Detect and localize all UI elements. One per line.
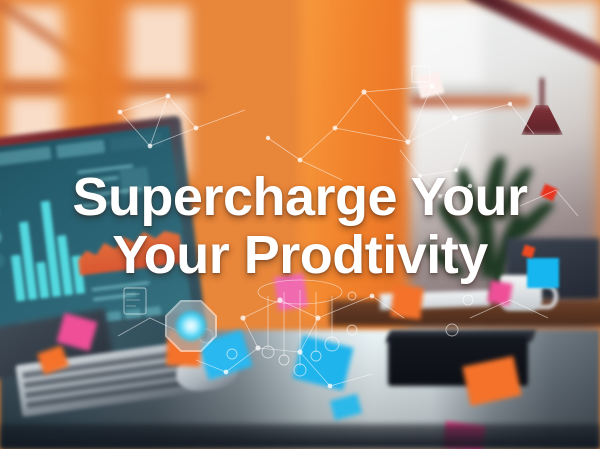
- glowing-hexagon-icon: [165, 300, 217, 352]
- tech-network-overlay: [0, 0, 600, 449]
- promotional-banner: Supercharge Your Your Prodtivity: [0, 0, 600, 449]
